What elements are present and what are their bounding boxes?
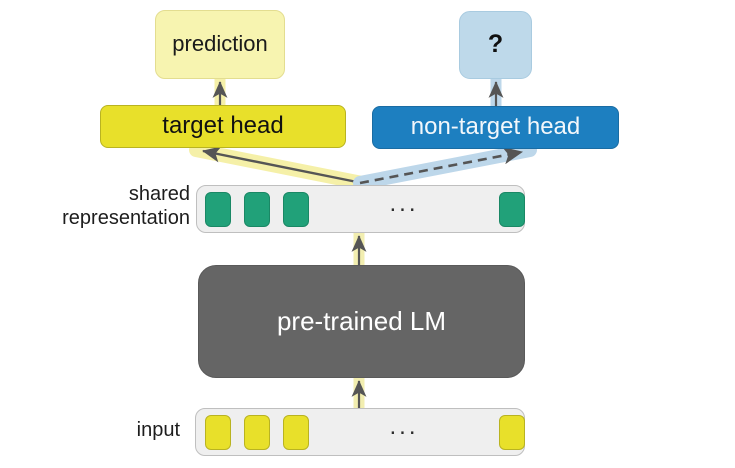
edge-layer: [0, 0, 735, 468]
shared-representation-row: ...: [196, 185, 525, 233]
input-cell: [499, 415, 525, 450]
shared-representation-label-line1: shared: [0, 182, 190, 206]
input-ellipsis: ...: [309, 415, 499, 449]
non-target-head-label: non-target head: [411, 114, 580, 140]
edge-shared-representation-to-non-target-head: [360, 150, 530, 183]
edge-shared-representation-to-target-head: [196, 150, 362, 183]
shared-representation-cell: [283, 192, 309, 227]
shared-representation-label-line2: representation: [0, 206, 190, 230]
pre-trained-lm-label: pre-trained LM: [277, 307, 446, 336]
shared-representation-cell: [499, 192, 525, 227]
input-label-text: input: [137, 419, 180, 441]
input-cell: [283, 415, 309, 450]
pre-trained-lm-node: pre-trained LM: [198, 265, 525, 378]
shared-representation-cell: [205, 192, 231, 227]
shared-representation-ellipsis: ...: [309, 192, 499, 226]
input-row: ...: [195, 408, 525, 456]
non-target-head-node: non-target head: [372, 106, 619, 149]
input-cell: [205, 415, 231, 450]
shared-representation-label: shared representation: [0, 182, 190, 230]
prediction-label: prediction: [172, 32, 267, 56]
diagram-canvas: prediction ? target head non-target head…: [0, 0, 735, 468]
question-node: ?: [459, 11, 532, 79]
prediction-node: prediction: [155, 10, 285, 79]
target-head-label: target head: [162, 113, 283, 139]
input-label: input: [0, 418, 180, 442]
input-cell: [244, 415, 270, 450]
shared-representation-cell: [244, 192, 270, 227]
target-head-node: target head: [100, 105, 346, 148]
question-label: ?: [488, 31, 503, 59]
